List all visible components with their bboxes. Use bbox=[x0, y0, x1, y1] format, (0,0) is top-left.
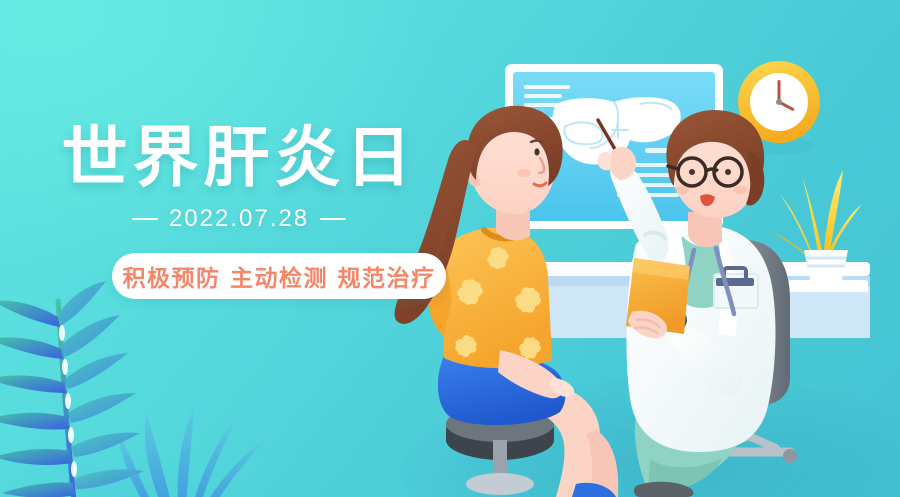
dash-left-icon bbox=[132, 218, 158, 220]
dash-right-icon bbox=[320, 218, 346, 220]
page-title: 世界肝炎日 bbox=[0, 124, 470, 191]
slogan-pill: 积极预防 主动检测 规范治疗 bbox=[112, 253, 446, 299]
event-date: 2022.07.28 bbox=[169, 205, 309, 233]
fern-decoration bbox=[0, 277, 316, 497]
slogan-text: 积极预防 主动检测 规范治疗 bbox=[122, 259, 435, 293]
fern-frond bbox=[0, 281, 144, 497]
poster-canvas: 世界肝炎日 2022.07.28 积极预防 主动检测 规范治疗 bbox=[0, 0, 900, 497]
palm-fan-leaf bbox=[118, 407, 266, 497]
date-row: 2022.07.28 bbox=[0, 205, 470, 233]
headline-block: 世界肝炎日 2022.07.28 积极预防 主动检测 规范治疗 bbox=[0, 124, 470, 299]
